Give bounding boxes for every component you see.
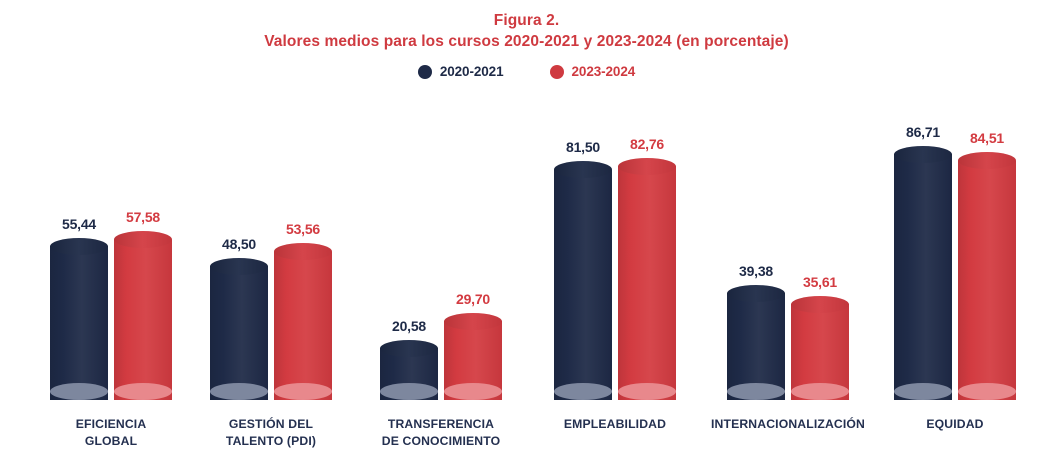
bar-value-label: 35,61 [803,274,837,290]
figure-container: Figura 2. Valores medios para los cursos… [0,0,1053,471]
bar-cylinder-cap [618,158,676,175]
bar-value-label: 86,71 [906,124,940,140]
bar-value-label: 53,56 [286,221,320,237]
bar-cylinder-base [958,383,1016,400]
bar-cylinder-body [210,266,268,400]
bar-cylinder-cap [727,285,785,302]
bar-value-label: 57,58 [126,209,160,225]
bar-cylinder-base [210,383,268,400]
bar-cylinder-cap [444,313,502,330]
bar-series2[interactable]: 82,76 [618,158,676,400]
bar-series1[interactable]: 39,38 [727,285,785,400]
bar-cylinder-base [114,383,172,400]
bar-series2[interactable]: 53,56 [274,243,332,400]
bar-cylinder-cap [894,146,952,163]
bar-cylinder-base [274,383,332,400]
bar-cylinder-body [958,161,1016,400]
bar-series1[interactable]: 20,58 [380,340,438,400]
bar-chart-plot-area: 55,4457,58EFICIENCIA GLOBAL48,5053,56GES… [0,0,1053,471]
bar-value-label: 84,51 [970,130,1004,146]
bar-cylinder-cap [210,258,268,275]
bar-group: 39,3835,61 [727,0,849,471]
bar-cylinder-base [791,383,849,400]
bar-value-label: 39,38 [739,263,773,279]
bar-value-label: 82,76 [630,136,664,152]
bar-value-label: 55,44 [62,216,96,232]
bar-cylinder-body [274,252,332,400]
category-label: EQUIDAD [825,416,1053,433]
bar-series1[interactable]: 81,50 [554,161,612,400]
bar-series2[interactable]: 35,61 [791,296,849,400]
bar-cylinder-base [618,383,676,400]
bar-cylinder-cap [791,296,849,313]
bar-value-label: 81,50 [566,139,600,155]
bar-series2[interactable]: 29,70 [444,313,502,400]
bar-series1[interactable]: 48,50 [210,258,268,400]
bar-cylinder-cap [50,238,108,255]
bar-group: 86,7184,51 [894,0,1016,471]
bar-cylinder-base [50,383,108,400]
bar-cylinder-cap [274,243,332,260]
bar-group: 55,4457,58 [50,0,172,471]
bar-group: 48,5053,56 [210,0,332,471]
bar-cylinder-body [50,246,108,400]
bar-value-label: 48,50 [222,236,256,252]
bar-cylinder-body [894,154,952,400]
bar-group: 20,5829,70 [380,0,502,471]
bar-cylinder-base [444,383,502,400]
bar-cylinder-body [618,166,676,400]
bar-cylinder-cap [380,340,438,357]
bar-series2[interactable]: 84,51 [958,152,1016,400]
bar-series1[interactable]: 86,71 [894,146,952,400]
bar-value-label: 29,70 [456,291,490,307]
bar-cylinder-body [114,240,172,400]
bar-series1[interactable]: 55,44 [50,238,108,400]
bar-group: 81,5082,76 [554,0,676,471]
bar-cylinder-body [554,170,612,400]
bar-value-label: 20,58 [392,318,426,334]
bar-cylinder-base [554,383,612,400]
bar-series2[interactable]: 57,58 [114,231,172,400]
bar-cylinder-base [727,383,785,400]
bar-cylinder-base [380,383,438,400]
bar-cylinder-base [894,383,952,400]
